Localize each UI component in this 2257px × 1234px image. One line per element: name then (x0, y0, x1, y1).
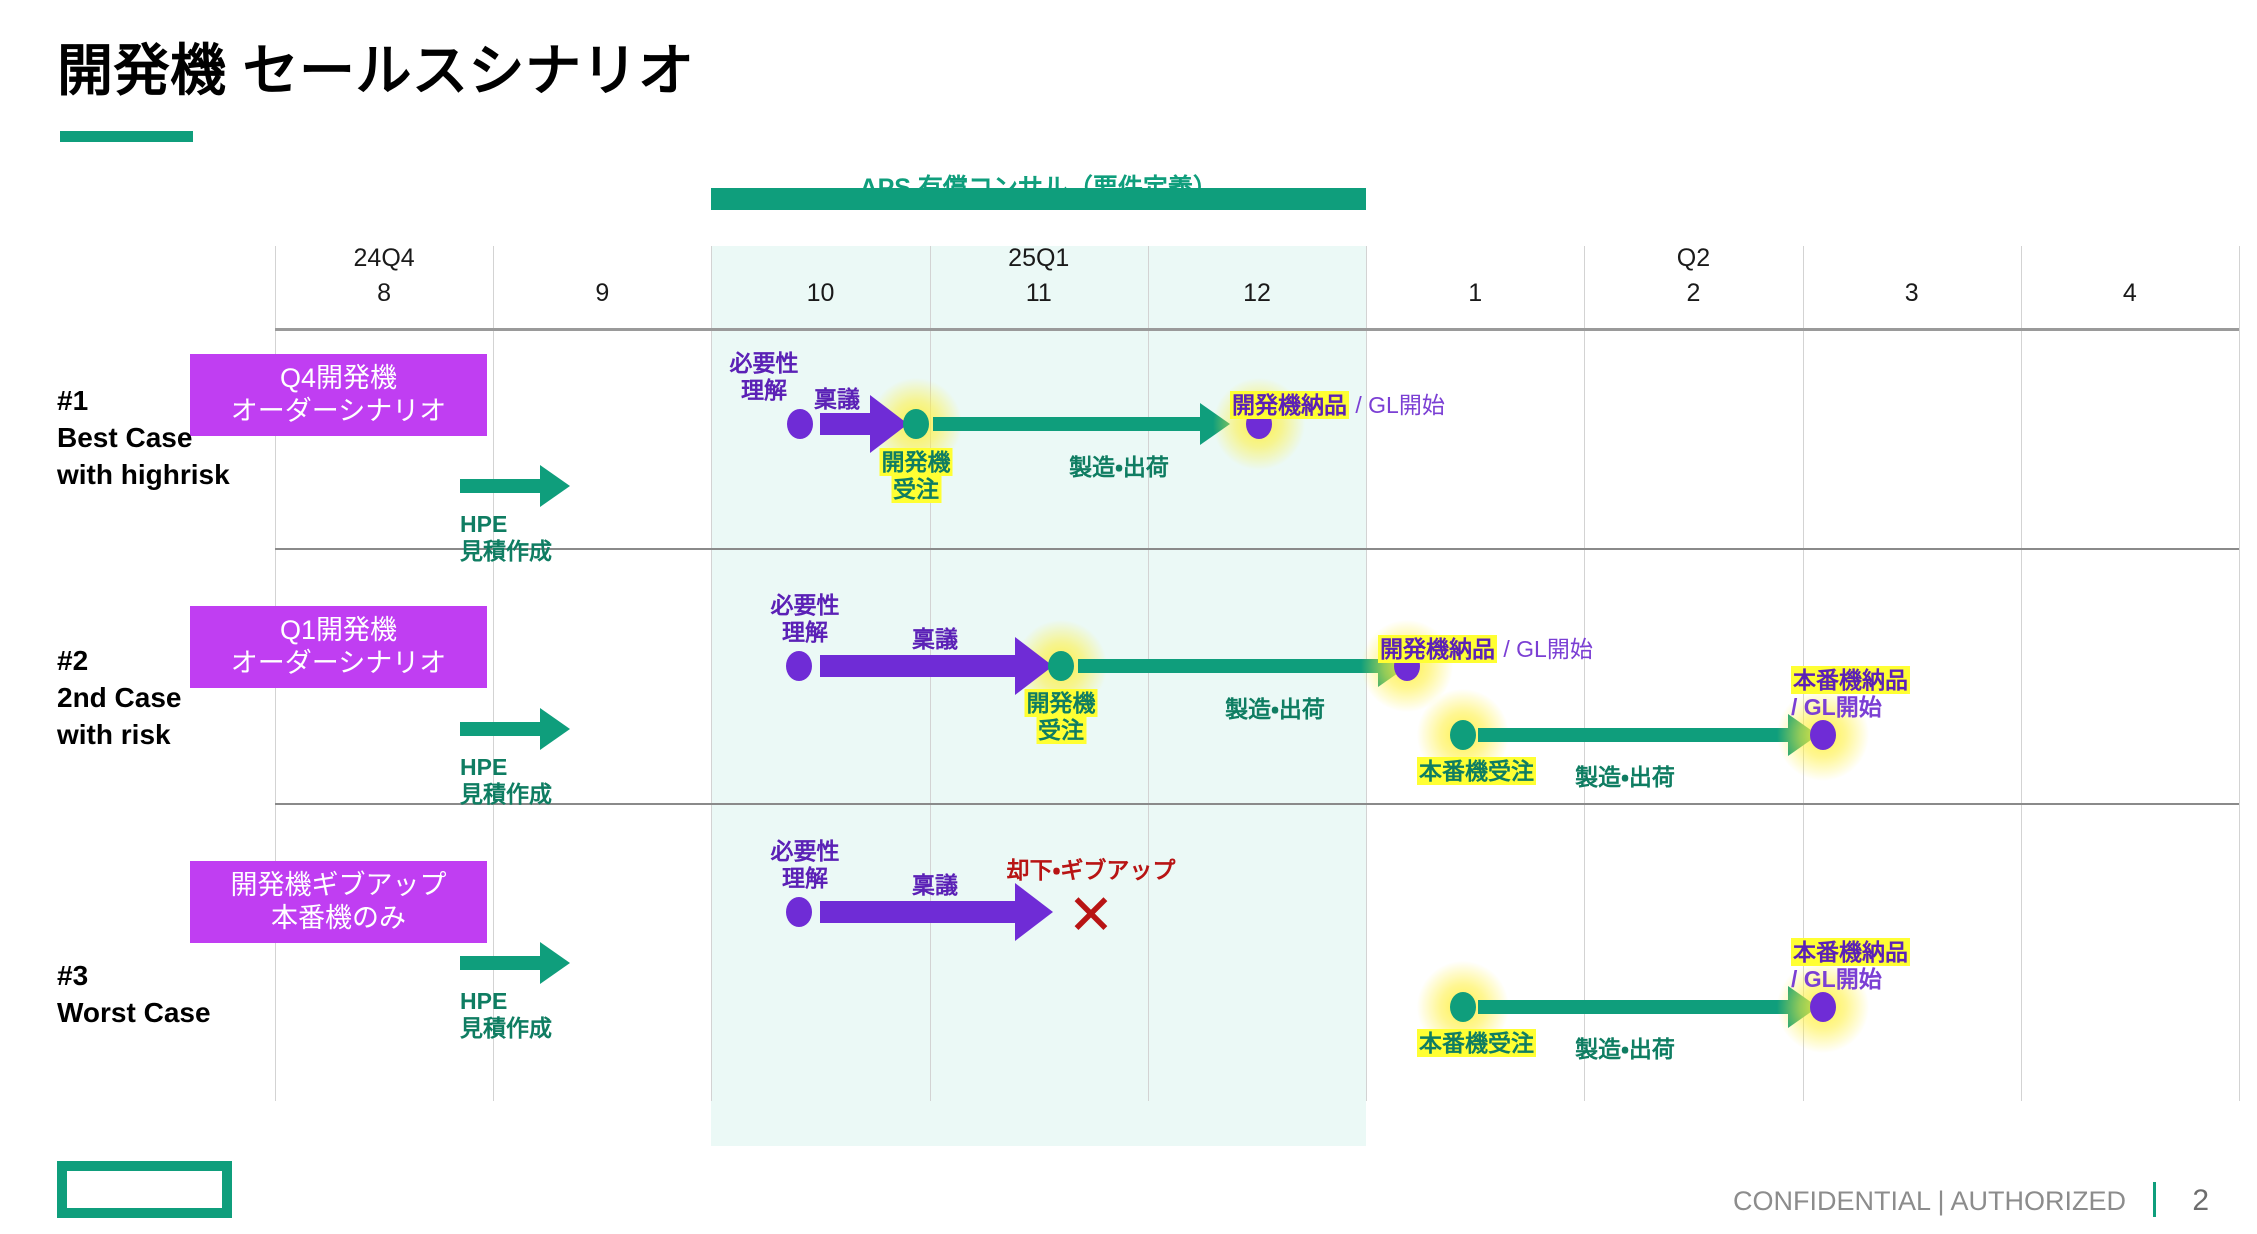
row-3-label-line-2: Worst Case (57, 995, 211, 1032)
quarter-label-24Q4: 24Q4 (275, 244, 493, 273)
badge-line-1: Q4開発機 (204, 362, 473, 395)
row-2-start-dot (786, 651, 812, 681)
month-label-2: 2 (1584, 279, 1802, 308)
badge-line-2: 本番機のみ (204, 902, 473, 935)
row-1-hpe-quote-arrow (460, 473, 570, 499)
row-3-prod-order-label: 本番機受注 (1417, 1030, 1536, 1057)
row-1-ringi-label: 稟議 (814, 386, 860, 413)
row-3-hpe-quote-arrow (460, 950, 570, 976)
quarter-label-25Q1: 25Q1 (930, 244, 1148, 273)
row-3-start-dot (786, 897, 812, 927)
row-1-dev-order-label: 開発機 受注 (880, 449, 953, 503)
consult-band-bar (711, 188, 1366, 210)
month-label-12: 12 (1148, 279, 1366, 308)
row-1-start-dot (787, 409, 813, 439)
row-1-dev-order-dot (903, 409, 929, 439)
prod-delivery-line-1: 本番機納品 (1791, 938, 1910, 966)
row-2-delivery-label: 開発機納品 / GL開始 (1378, 636, 1593, 663)
hpe-line-1: HPE (460, 754, 552, 781)
prod-delivery-line-2: / GL開始 (1791, 694, 1882, 720)
row-1-label-line-2: Best Case (57, 420, 230, 457)
need-line-1: 必要性 (771, 592, 840, 619)
row-3-prod-delivery-dot (1810, 992, 1836, 1022)
timeline-axis (275, 328, 2239, 331)
prod-delivery-line-1: 本番機納品 (1791, 666, 1910, 694)
row-2-manufacture-label: 製造・出荷 (1225, 696, 1325, 723)
grid-line-month-2 (1584, 246, 1585, 1101)
row-3-prod-delivery-label: 本番機納品 / GL開始 (1791, 939, 1910, 993)
row-1-scenario-badge[interactable]: Q4開発機 オーダーシナリオ (190, 354, 487, 436)
month-label-9: 9 (493, 279, 711, 308)
grid-line-month-10 (711, 246, 712, 1101)
dev-order-line-2: 受注 (1036, 716, 1086, 744)
row-2-label-line-1: #2 (57, 643, 182, 680)
month-label-8: 8 (275, 279, 493, 308)
month-label-3: 3 (1803, 279, 2021, 308)
prod-order-text: 本番機受注 (1417, 1029, 1536, 1057)
row-2-label-line-3: with risk (57, 717, 182, 754)
hpe-line-2: 見積作成 (460, 781, 552, 808)
reject-x-icon: ✕ (1068, 887, 1115, 943)
row-1-hpe-quote-label: HPE 見積作成 (460, 511, 552, 565)
row-3-prod-manufacture-label: 製造・出荷 (1575, 1036, 1675, 1063)
row-1-label-line-3: with highrisk (57, 457, 230, 494)
row-1-ringi-arrow (820, 411, 908, 437)
row-3-prod-manufacture-arrow (1478, 994, 1818, 1020)
row-3-need-understanding-label: 必要性 理解 (771, 838, 840, 892)
row-1-need-understanding-label: 必要性 理解 (730, 350, 799, 404)
row-separator-1 (275, 548, 2239, 550)
month-label-4: 4 (2021, 279, 2239, 308)
row-2-dev-order-dot (1048, 651, 1074, 681)
row-2-ringi-label: 稟議 (912, 626, 958, 653)
row-2-dev-order-label: 開発機 受注 (1025, 690, 1098, 744)
row-2-label: #2 2nd Case with risk (57, 643, 182, 754)
hpe-line-1: HPE (460, 511, 552, 538)
row-3-hpe-quote-label: HPE 見積作成 (460, 988, 552, 1042)
row-2-label-line-2: 2nd Case (57, 680, 182, 717)
row-1-label-line-1: #1 (57, 383, 230, 420)
grid-line-end (2239, 246, 2240, 1101)
month-label-1: 1 (1366, 279, 1584, 308)
badge-line-2: オーダーシナリオ (204, 395, 473, 428)
hpe-line-1: HPE (460, 988, 552, 1015)
hpe-logo (57, 1161, 232, 1218)
badge-line-2: オーダーシナリオ (204, 647, 473, 680)
row-1-delivery-label: 開発機納品 / GL開始 (1230, 392, 1445, 419)
row-2-prod-delivery-dot (1810, 720, 1836, 750)
confidentiality-notice: CONFIDENTIAL | AUTHORIZED (1733, 1186, 2126, 1217)
timeline-chart: 89101112123424Q425Q1Q2 Q4開発機 オーダーシナリオ 必要… (275, 246, 2239, 1146)
row-3-ringi-arrow (820, 899, 1053, 925)
delivery-rest: / GL開始 (1349, 392, 1445, 418)
grid-line-month-4 (2021, 246, 2022, 1101)
row-2-scenario-badge[interactable]: Q1開発機 オーダーシナリオ (190, 606, 487, 688)
delivery-highlight: 開発機納品 (1230, 391, 1349, 419)
row-2-prod-delivery-label: 本番機納品 / GL開始 (1791, 667, 1910, 721)
footer-divider (2153, 1182, 2156, 1217)
hpe-line-2: 見積作成 (460, 1015, 552, 1042)
row-separator-2 (275, 803, 2239, 805)
row-2-prod-manufacture-arrow (1478, 722, 1818, 748)
title-underline-rule (60, 131, 193, 142)
row-2-ringi-arrow (820, 653, 1053, 679)
month-label-10: 10 (711, 279, 929, 308)
need-line-2: 理解 (730, 377, 799, 404)
row-2-prod-order-dot (1450, 720, 1476, 750)
need-line-2: 理解 (771, 619, 840, 646)
row-3-scenario-badge[interactable]: 開発機ギブアップ 本番機のみ (190, 861, 487, 943)
quarter-label-Q2: Q2 (1584, 244, 1802, 273)
delivery-highlight: 開発機納品 (1378, 635, 1497, 663)
need-line-1: 必要性 (771, 838, 840, 865)
row-3-label-line-1: #3 (57, 958, 211, 995)
badge-line-1: 開発機ギブアップ (204, 869, 473, 902)
row-2-need-understanding-label: 必要性 理解 (771, 592, 840, 646)
row-1-manufacture-label: 製造・出荷 (1069, 454, 1169, 481)
slide: 開発機 セールスシナリオ APS 有償コンサル（要件定義） 8910111212… (0, 0, 2257, 1234)
need-line-1: 必要性 (730, 350, 799, 377)
row-2-hpe-quote-label: HPE 見積作成 (460, 754, 552, 808)
badge-line-1: Q1開発機 (204, 614, 473, 647)
row-3-rejected-label: 却下・ギブアップ (1007, 857, 1176, 884)
row-1-label: #1 Best Case with highrisk (57, 383, 230, 494)
row-2-prod-order-label: 本番機受注 (1417, 758, 1536, 785)
row-2-hpe-quote-arrow (460, 716, 570, 742)
page-title: 開発機 セールスシナリオ (57, 26, 695, 107)
month-label-11: 11 (930, 279, 1148, 308)
prod-delivery-line-2: / GL開始 (1791, 966, 1882, 992)
dev-order-line-2: 受注 (891, 475, 941, 503)
prod-order-text: 本番機受注 (1417, 757, 1536, 785)
need-line-2: 理解 (771, 865, 840, 892)
delivery-rest: / GL開始 (1497, 636, 1593, 662)
row-3-prod-order-dot (1450, 992, 1476, 1022)
dev-order-line-1: 開発機 (1025, 689, 1098, 717)
page-number: 2 (2192, 1184, 2209, 1218)
row-3-label: #3 Worst Case (57, 958, 211, 1032)
row-3-ringi-label: 稟議 (912, 872, 958, 899)
row-2-prod-manufacture-label: 製造・出荷 (1575, 764, 1675, 791)
row-1-manufacture-arrow (933, 411, 1230, 437)
hpe-line-2: 見積作成 (460, 538, 552, 565)
dev-order-line-1: 開発機 (880, 448, 953, 476)
